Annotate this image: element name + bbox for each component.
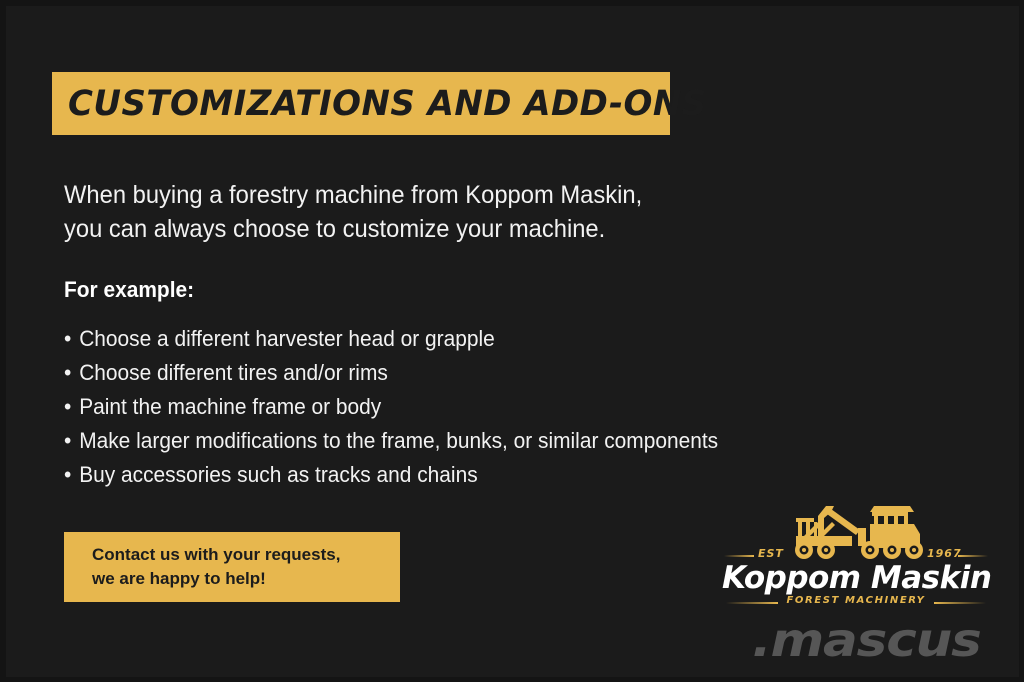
frame-edge-bottom (0, 677, 1024, 682)
list-item-label: Choose a different harvester head or gra… (79, 326, 495, 351)
intro-line-1: When buying a forestry machine from Kopp… (64, 178, 748, 212)
customization-list: • Choose a different harvester head or g… (64, 322, 824, 492)
logo-rule-right (958, 555, 988, 557)
frame-edge-left (0, 0, 6, 682)
list-item-label: Buy accessories such as tracks and chain… (79, 462, 477, 487)
koppom-maskin-logo: EST 1967 Koppom Maskin FOREST MACHINERY (722, 500, 990, 610)
slide-canvas: CUSTOMIZATIONS AND ADD-ONS When buying a… (0, 0, 1024, 682)
logo-tagline-rule-right (934, 602, 986, 604)
logo-year-label: 1967 (927, 547, 962, 560)
contact-cta-box[interactable]: Contact us with your requests, we are ha… (64, 532, 400, 602)
intro-line-2: you can always choose to customize your … (64, 212, 748, 246)
logo-tagline: FOREST MACHINERY (722, 595, 990, 606)
title-banner: CUSTOMIZATIONS AND ADD-ONS (52, 72, 670, 135)
intro-paragraph: When buying a forestry machine from Kopp… (64, 178, 784, 246)
list-item: • Choose different tires and/or rims (64, 356, 786, 390)
bullet-icon: • (64, 356, 71, 390)
for-example-label: For example: (64, 277, 194, 303)
logo-est-label: EST (758, 547, 784, 560)
logo-rule-left (724, 555, 754, 557)
list-item-label: Paint the machine frame or body (79, 394, 381, 419)
mascus-watermark: .mascus (752, 613, 981, 667)
list-item: • Buy accessories such as tracks and cha… (64, 458, 786, 492)
bullet-icon: • (64, 390, 71, 424)
contact-line-1: Contact us with your requests, (92, 543, 400, 567)
list-item: • Paint the machine frame or body (64, 390, 786, 424)
page-title: CUSTOMIZATIONS AND ADD-ONS (68, 84, 707, 124)
logo-wordmark: Koppom Maskin (722, 560, 990, 596)
list-item-label: Make larger modifications to the frame, … (79, 428, 718, 453)
bullet-icon: • (64, 322, 71, 356)
bullet-icon: • (64, 458, 71, 492)
frame-edge-top (0, 0, 1024, 6)
logo-tagline-row: FOREST MACHINERY (722, 595, 990, 609)
contact-line-2: we are happy to help! (92, 567, 400, 591)
list-item: • Make larger modifications to the frame… (64, 424, 786, 458)
list-item-label: Choose different tires and/or rims (79, 360, 388, 385)
list-item: • Choose a different harvester head or g… (64, 322, 786, 356)
bullet-icon: • (64, 424, 71, 458)
frame-edge-right (1019, 0, 1024, 682)
